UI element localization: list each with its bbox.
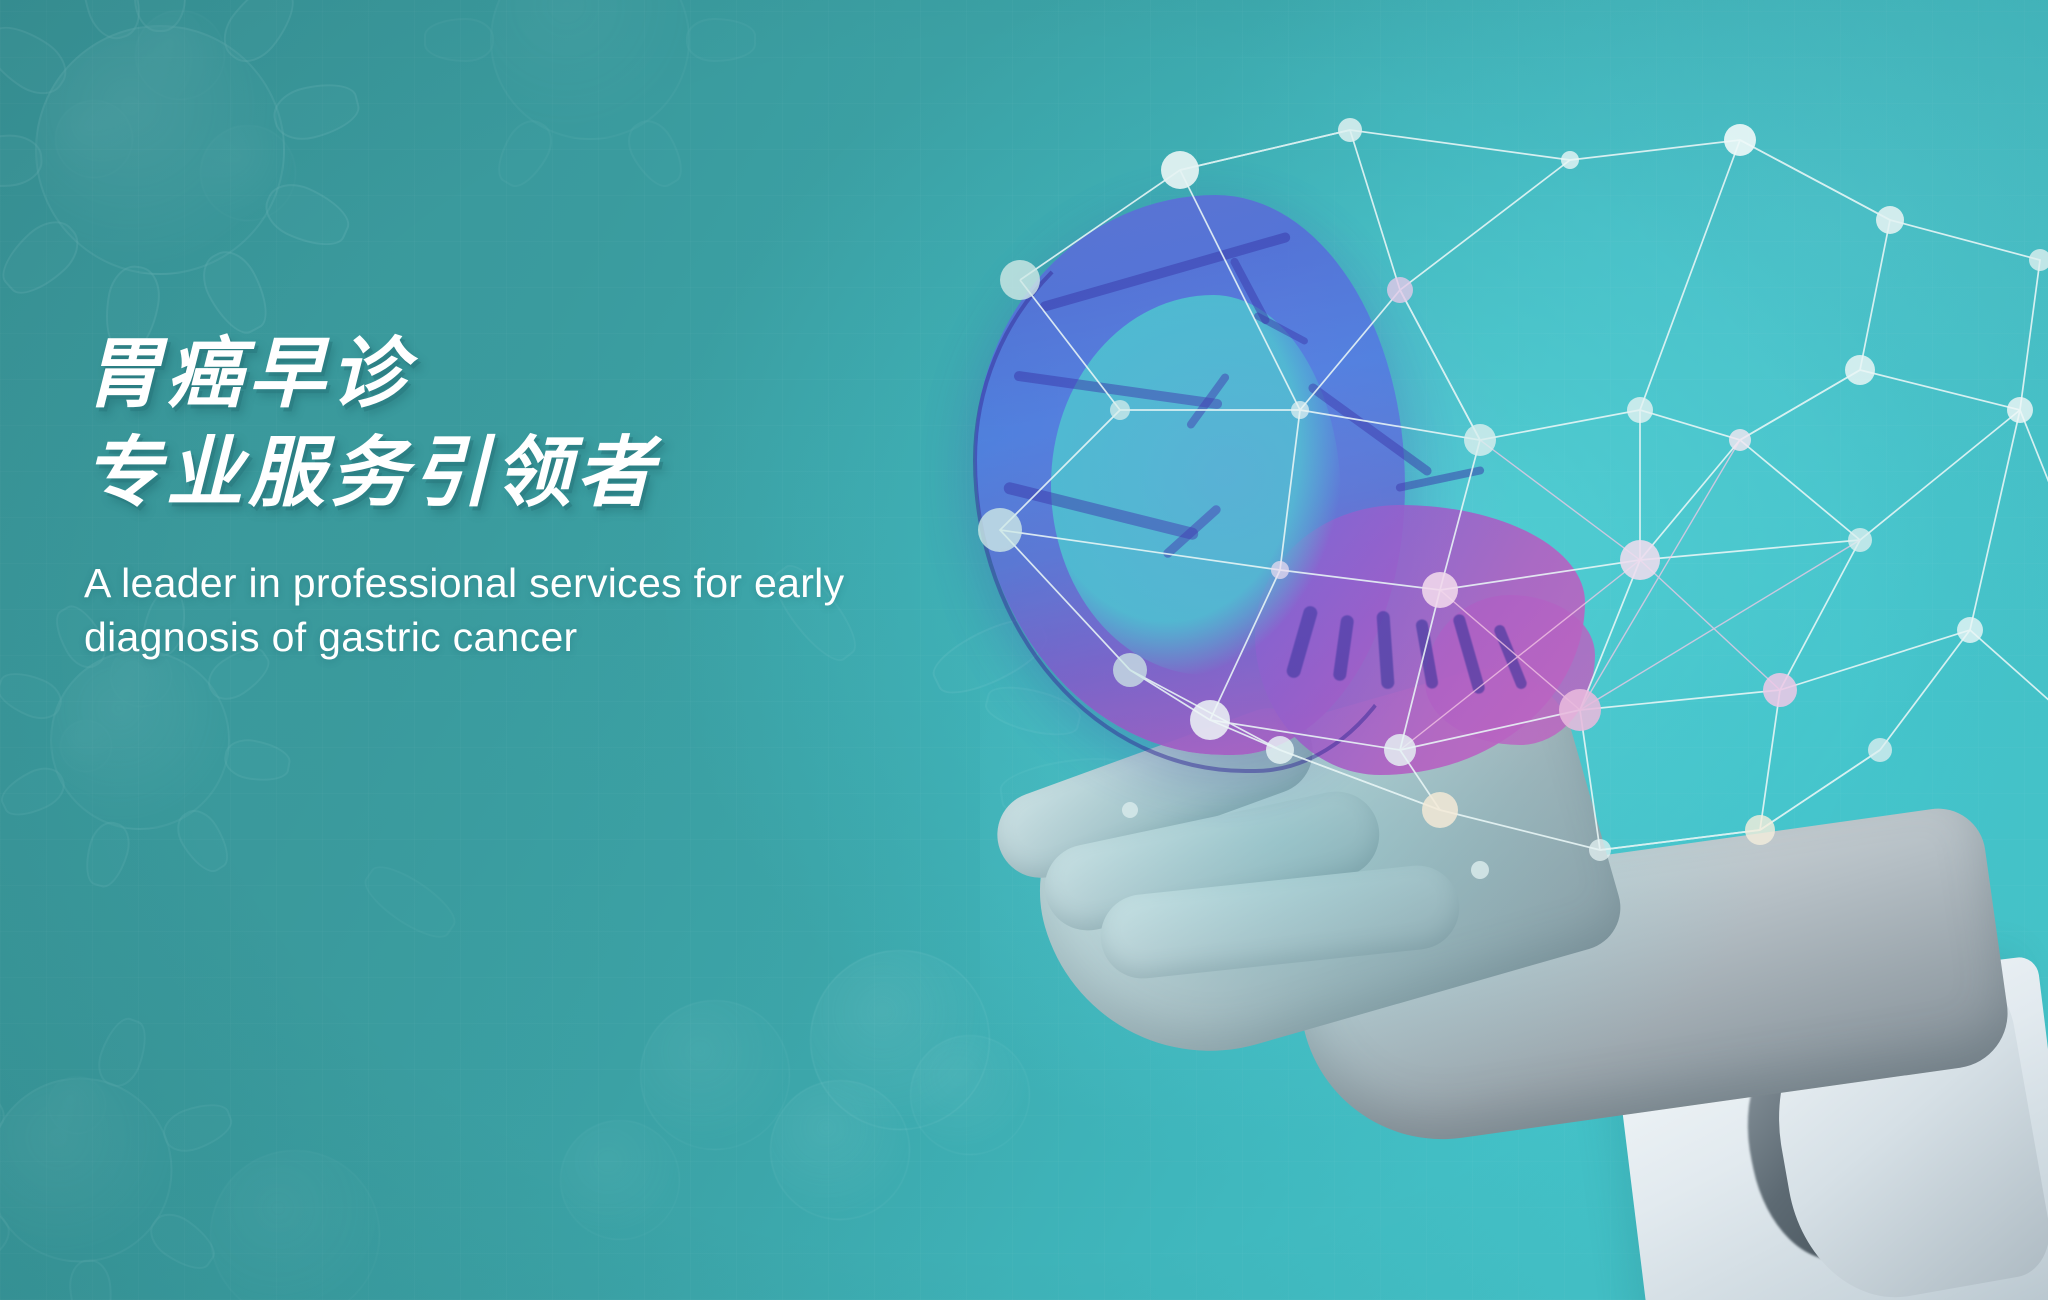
network-node	[1387, 277, 1413, 303]
network-node	[1338, 118, 1362, 142]
network-node	[1471, 861, 1489, 879]
network-node	[1559, 689, 1601, 731]
network-edges	[1000, 130, 2048, 850]
network-node	[2007, 397, 2033, 423]
network-node	[1161, 151, 1199, 189]
network-edges-accent	[1400, 440, 1860, 750]
network-node	[1561, 151, 1579, 169]
network-node	[1291, 401, 1309, 419]
network-node	[1000, 260, 1040, 300]
network-node	[1589, 839, 1611, 861]
headline-cn-line-1: 胃癌早诊	[84, 325, 984, 424]
bacteria-icon	[356, 856, 464, 948]
network-node	[1620, 540, 1660, 580]
network-node	[1724, 124, 1756, 156]
network-node	[1422, 792, 1458, 828]
network-nodes	[978, 118, 2048, 879]
cell-icon	[810, 950, 990, 1130]
network-node	[1271, 561, 1289, 579]
network-node	[2029, 249, 2048, 271]
virus-icon	[0, 1010, 230, 1300]
headline-block: 胃癌早诊 专业服务引领者 A leader in professional se…	[84, 325, 984, 664]
network-node	[1113, 653, 1147, 687]
network-node	[1384, 734, 1416, 766]
virus-icon	[0, 0, 360, 350]
network-node	[1876, 206, 1904, 234]
virus-icon	[430, 0, 750, 200]
network-node	[1763, 673, 1797, 707]
network-node	[1848, 528, 1872, 552]
subheadline-block: A leader in professional services for ea…	[84, 556, 984, 664]
cell-icon	[210, 1150, 380, 1300]
subheadline-en-line-2: diagnosis of gastric cancer	[84, 610, 984, 664]
network-node	[1627, 397, 1653, 423]
network-node	[1957, 617, 1983, 643]
network-node	[1190, 700, 1230, 740]
network-node	[1422, 572, 1458, 608]
network-svg	[880, 110, 2048, 930]
hero-banner: 胃癌早诊 专业服务引领者 A leader in professional se…	[0, 0, 2048, 1300]
cell-icon	[770, 1080, 910, 1220]
network-node	[978, 508, 1022, 552]
headline-cn-line-2: 专业服务引领者	[84, 424, 984, 523]
network-node	[1868, 738, 1892, 762]
network-node	[1464, 424, 1496, 456]
cell-icon	[640, 1000, 790, 1150]
network-node	[1845, 355, 1875, 385]
low-poly-network-overlay	[880, 110, 2048, 930]
subheadline-en-line-1: A leader in professional services for ea…	[84, 556, 984, 610]
network-node	[1729, 429, 1751, 451]
network-node	[1745, 815, 1775, 845]
network-node	[1122, 802, 1138, 818]
cell-icon	[560, 1120, 680, 1240]
network-node	[1266, 736, 1294, 764]
network-node	[1110, 400, 1130, 420]
